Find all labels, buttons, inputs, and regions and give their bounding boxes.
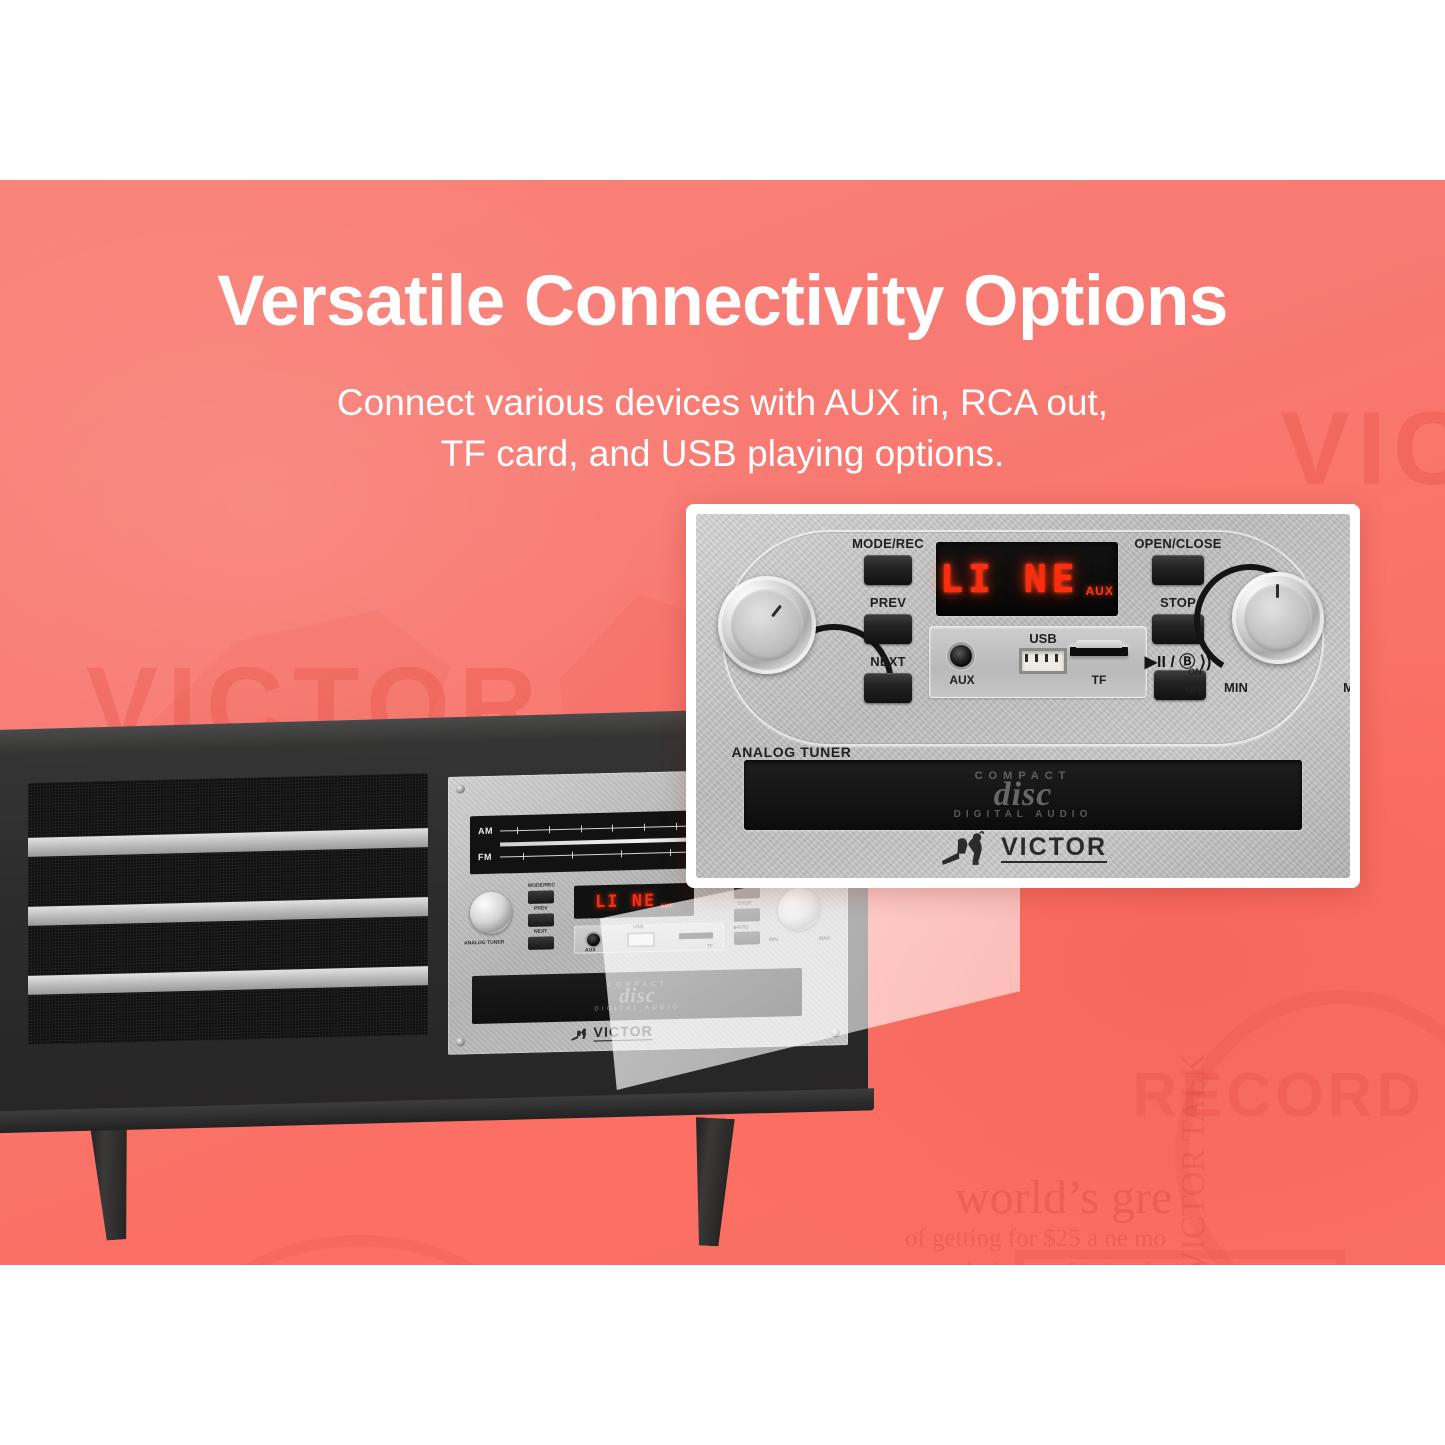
zoom-callout-card: ANALOG TUNER MODE/REC PREV NEXT LI NE AU… [686,504,1360,888]
nipper-dog-gramophone-icon [570,1026,590,1042]
tf-card-label: TF [1070,673,1128,687]
grille-bar-2 [28,897,428,926]
aux-port-label: AUX [940,673,984,687]
grille-bar-1 [28,828,428,857]
grille-bar-3 [28,966,428,995]
device-volume-knob[interactable] [778,888,820,931]
volume-range-labels: MIN MAX [1224,680,1350,695]
device-led-display: LI NE AUX [574,883,694,919]
speaker-grille [28,773,428,1045]
nipper-dog-gramophone-icon [939,828,991,868]
device-cd-slot[interactable]: COMPACT disc DIGITAL AUDIO [472,968,802,1024]
left-button-column: MODE/REC PREV NEXT [851,536,925,713]
device-prev-label: PREV [534,905,548,911]
subtitle-line-2: TF card, and USB playing options. [0,428,1445,479]
volume-knob-assembly: ON I OFF MIN MAX [1232,572,1324,664]
device-analog-tuner-knob[interactable] [470,891,512,934]
device-stop-button[interactable] [734,908,760,922]
device-mode-rec-button[interactable] [528,890,554,904]
aux-input-jack[interactable] [950,645,972,667]
device-prev-button[interactable] [528,913,554,927]
volume-max-label: MAX [1343,680,1350,695]
cd-digital-audio-text: DIGITAL AUDIO [954,809,1093,820]
volume-min-label: MIN [1224,680,1248,695]
led-aux-indicator: AUX [1086,584,1114,598]
device-tf-slot[interactable] [679,932,713,939]
fm-band-label: FM [478,852,500,863]
victor-brand-logo: VICTOR [696,828,1350,868]
plate-screw-bottom-left [456,1037,465,1046]
tuner-pointer-mark [771,605,782,618]
device-tf-label: TF [707,943,713,949]
device-aux-label: AUX [585,947,596,953]
am-band-label: AM [478,826,500,837]
volume-pointer-mark [1276,584,1279,598]
plate-screw-bottom-right [831,1028,840,1037]
connectivity-port-block: AUX USB TF [929,626,1147,698]
cd-loading-slot[interactable]: COMPACT disc DIGITAL AUDIO [744,760,1302,830]
victor-wordmark: VICTOR [1001,834,1107,863]
mode-rec-button[interactable] [864,555,912,585]
device-play-pause-button[interactable] [734,931,760,945]
open-close-label: OPEN/CLOSE [1132,536,1224,551]
mode-rec-label: MODE/REC [851,536,925,551]
tf-card-slot[interactable] [1070,647,1128,656]
device-mode-rec-label: MODE/REC [528,882,555,889]
console-leg-right [687,1117,738,1247]
marketing-banner: VICTOR VIC RECORD world’s gre of getting… [0,0,1445,1445]
device-max-label: MAX [819,936,830,942]
analog-tuner-label: ANALOG TUNER [724,744,859,760]
device-min-label: MIN [769,937,778,943]
device-mini-control-panel: ANALOG TUNER MODE/REC PREV NEXT LI NE AU… [462,875,834,964]
device-play-label: ▶II/Ⓑ) [734,924,749,931]
analog-tuner-knob[interactable] [718,576,816,674]
volume-power-knob[interactable] [1232,572,1324,664]
power-switch-labels: ON I OFF [1186,668,1204,695]
victor-talking-watermark: VICTOR TALK [1175,1053,1213,1265]
device-victor-wordmark: VICTOR [594,1024,653,1042]
usb-port-label: USB [1005,631,1081,646]
device-led-aux-indicator: AUX [660,903,673,909]
device-victor-logo: VICTOR [570,1024,653,1042]
page-subtitle: Connect various devices with AUX in, RCA… [0,377,1445,479]
next-label: NEXT [851,654,925,669]
usb-port[interactable] [1019,648,1067,674]
control-panel-closeup: ANALOG TUNER MODE/REC PREV NEXT LI NE AU… [696,514,1350,878]
led-display: LI NE AUX [936,542,1118,616]
device-tuner-label: ANALOG TUNER [464,940,504,947]
analog-tuner-assembly: ANALOG TUNER [718,576,816,674]
device-aux-jack[interactable] [587,933,600,946]
led-display-text: LI NE [940,557,1079,601]
cd-disc-text: disc [954,778,1093,812]
open-close-button[interactable] [1152,555,1204,585]
power-off-label: OFF [1186,686,1204,695]
device-usb-label: USB [633,924,644,930]
subtitle-line-1: Connect various devices with AUX in, RCA… [0,377,1445,428]
page-title: Versatile Connectivity Options [0,265,1445,340]
device-next-label: NEXT [534,928,547,934]
prev-label: PREV [851,595,925,610]
device-stop-label: STOP [738,900,752,906]
device-port-block: AUX USB TF [574,922,724,954]
plate-screw-top-left [456,784,465,793]
device-cd-digital-audio-text: DIGITAL AUDIO [594,1004,680,1013]
compact-disc-logo: COMPACT disc DIGITAL AUDIO [954,770,1093,820]
next-button[interactable] [864,673,912,703]
worlds-great-watermark: world’s gre [955,1170,1172,1225]
device-next-button[interactable] [528,936,554,950]
prev-button[interactable] [864,614,912,644]
device-led-text: LI NE [595,890,656,911]
device-usb-port[interactable] [627,932,655,948]
device-cd-logo: COMPACT disc DIGITAL AUDIO [594,979,680,1012]
